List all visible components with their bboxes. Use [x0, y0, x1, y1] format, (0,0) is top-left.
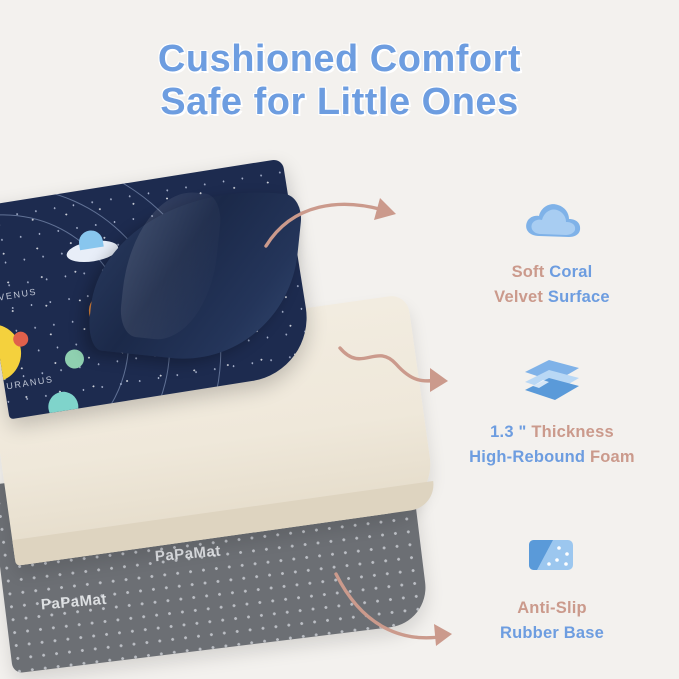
- caption-line2-part1: Velvet: [494, 288, 548, 306]
- arrow-to-surface-feature: [262, 190, 422, 260]
- headline-line-1: Cushioned Comfort: [0, 38, 679, 81]
- product-infographic: Cushioned Comfort Safe for Little Ones P…: [0, 0, 679, 679]
- anti-slip-icon: [432, 532, 672, 584]
- caption-line1-part2: Thickness: [531, 423, 614, 441]
- cloud-icon: [432, 196, 672, 248]
- caption-line2-part1: High-Rebound: [469, 448, 590, 466]
- caption-line1-part2: Coral: [549, 263, 592, 281]
- headline-line-2: Safe for Little Ones: [0, 81, 679, 124]
- feature-caption: Anti-Slip Rubber Base: [432, 596, 672, 646]
- caption-line1-part1: Anti-Slip: [517, 599, 587, 617]
- caption-line1-part1: Soft: [512, 263, 550, 281]
- feature-caption: Soft Coral Velvet Surface: [432, 260, 672, 310]
- caption-line2-part2: Base: [564, 624, 604, 642]
- caption-line2-part2: Surface: [548, 288, 610, 306]
- headline: Cushioned Comfort Safe for Little Ones: [0, 38, 679, 123]
- foam-layers-icon: [432, 356, 672, 408]
- feature-thickness-high-rebound-foam: 1.3 " Thickness High-Rebound Foam: [432, 356, 672, 470]
- feature-soft-coral-velvet-surface: Soft Coral Velvet Surface: [432, 196, 672, 310]
- caption-line2-part1: Rubber: [500, 624, 564, 642]
- feature-anti-slip-rubber-base: Anti-Slip Rubber Base: [432, 532, 672, 646]
- caption-line1-part1: 1.3 ": [490, 423, 531, 441]
- feature-caption: 1.3 " Thickness High-Rebound Foam: [432, 420, 672, 470]
- caption-line2-part2: Foam: [590, 448, 635, 466]
